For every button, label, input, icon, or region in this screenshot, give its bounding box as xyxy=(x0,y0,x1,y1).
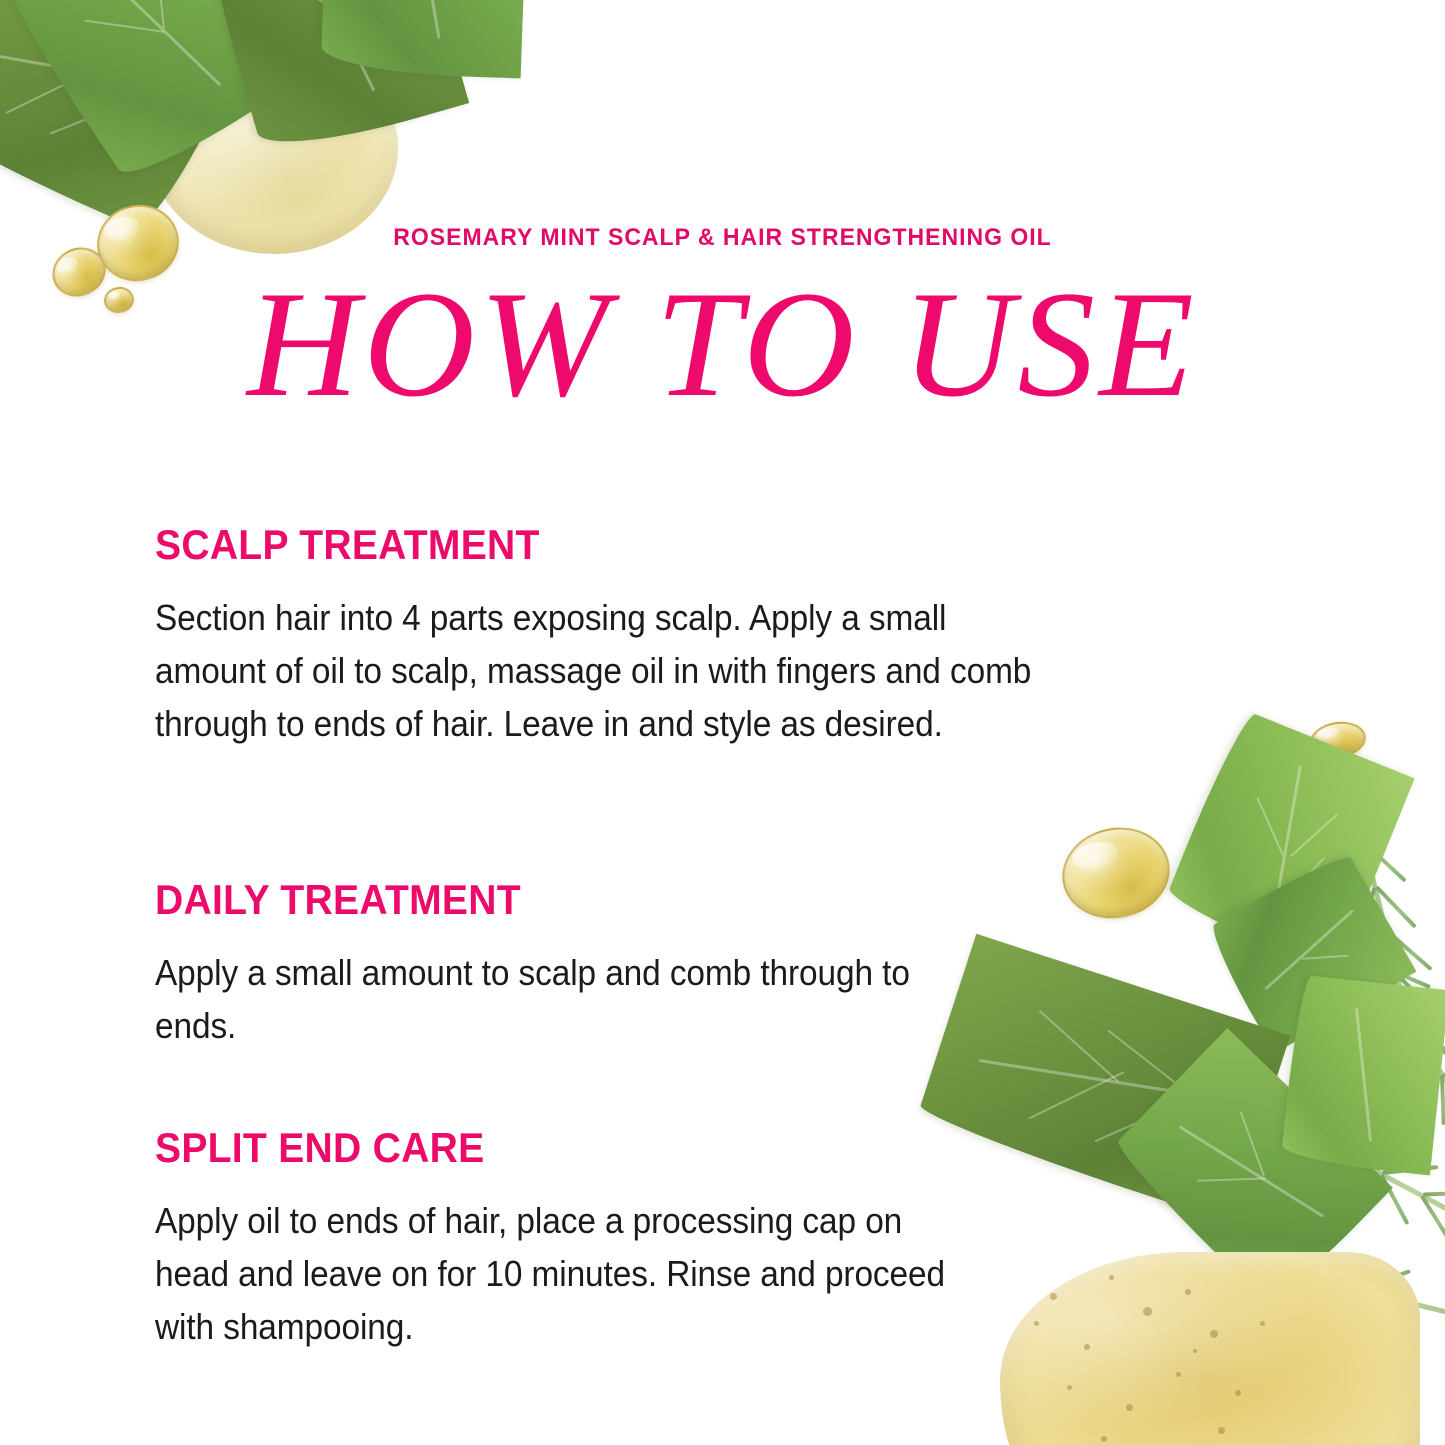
content-layer: ROSEMARY MINT SCALP & HAIR STRENGTHENING… xyxy=(0,0,1445,1445)
section-body-text: Apply oil to ends of hair, place a proce… xyxy=(155,1194,960,1353)
section-split-end-care: SPLIT END CARE Apply oil to ends of hair… xyxy=(155,1126,1035,1353)
page-title: HOW TO USE xyxy=(0,268,1445,420)
section-body-text: Section hair into 4 parts exposing scalp… xyxy=(155,591,1038,750)
section-heading: SPLIT END CARE xyxy=(155,1126,973,1170)
section-heading: SCALP TREATMENT xyxy=(155,523,973,567)
poster-canvas: ROSEMARY MINT SCALP & HAIR STRENGTHENING… xyxy=(0,0,1445,1445)
section-daily-treatment: DAILY TREATMENT Apply a small amount to … xyxy=(155,878,1035,1052)
section-scalp-treatment: SCALP TREATMENT Section hair into 4 part… xyxy=(155,523,1035,750)
section-body-text: Apply a small amount to scalp and comb t… xyxy=(155,946,924,1052)
product-eyebrow-label: ROSEMARY MINT SCALP & HAIR STRENGTHENING… xyxy=(43,224,1401,252)
section-heading: DAILY TREATMENT xyxy=(155,878,973,922)
